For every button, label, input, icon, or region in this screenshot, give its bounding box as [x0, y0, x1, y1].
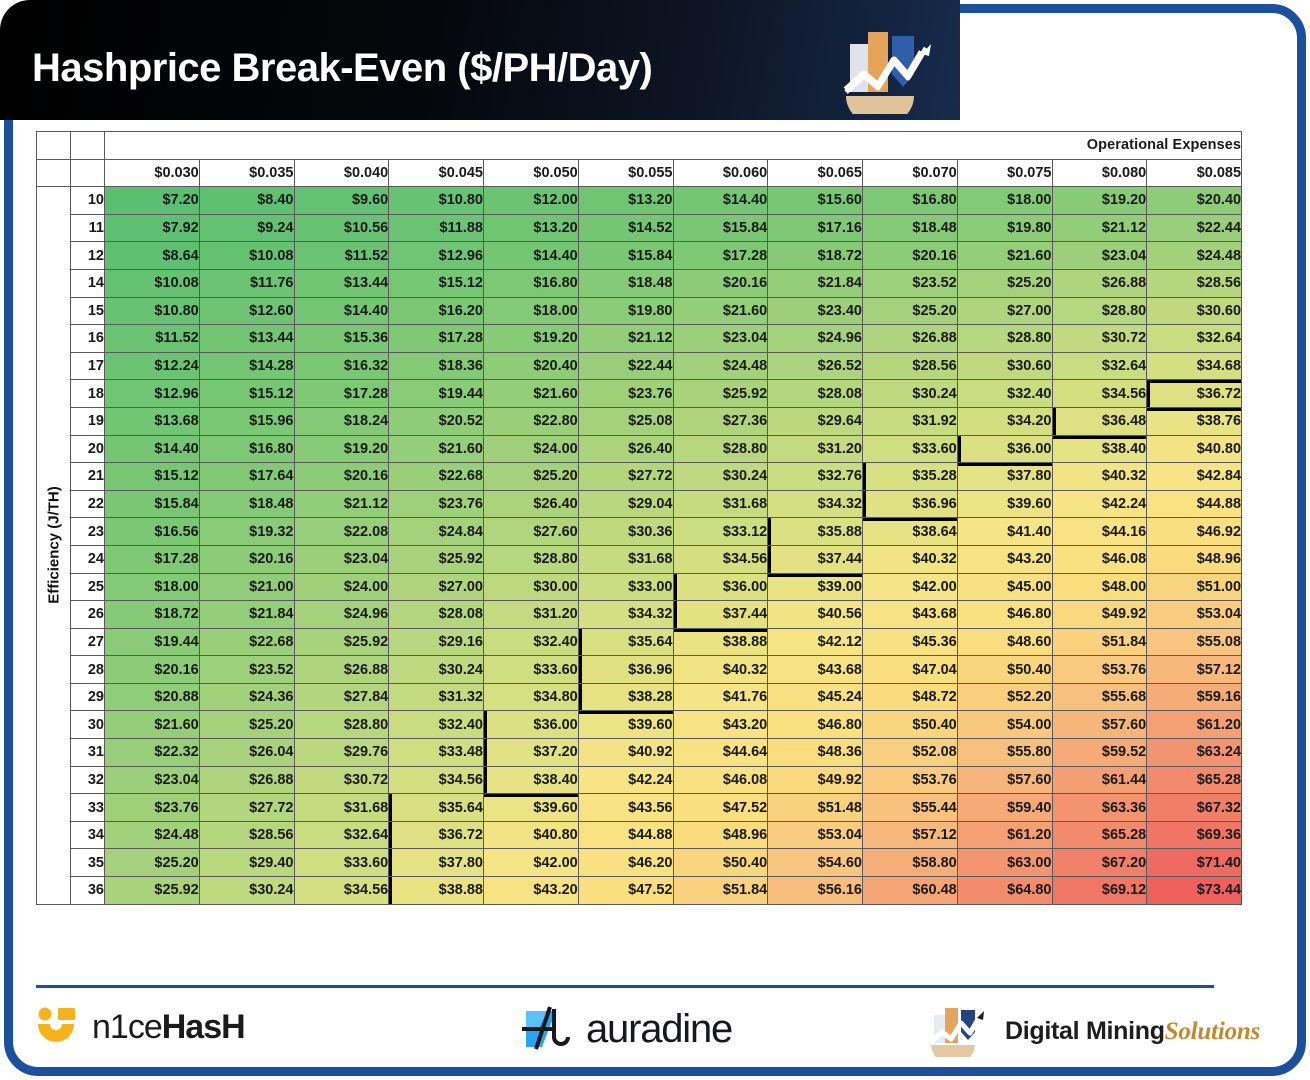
- break-even-cell: $15.84: [578, 242, 673, 270]
- break-even-cell: $28.08: [768, 380, 863, 408]
- break-even-cell: $34.80: [484, 683, 579, 711]
- break-even-cell: $14.40: [294, 297, 389, 325]
- break-even-cell: $25.20: [863, 297, 958, 325]
- break-even-cell: $10.56: [294, 214, 389, 242]
- break-even-cell: $25.92: [105, 877, 200, 905]
- break-even-cell: $59.52: [1052, 739, 1147, 767]
- break-even-cell: $43.68: [768, 656, 863, 684]
- break-even-cell: $43.56: [578, 794, 673, 822]
- break-even-cell: $34.56: [673, 545, 768, 573]
- break-even-cell: $34.32: [768, 490, 863, 518]
- break-even-cell: $20.16: [294, 463, 389, 491]
- break-even-cell: $17.28: [105, 545, 200, 573]
- break-even-cell: $9.24: [199, 214, 294, 242]
- break-even-cell: $19.44: [389, 380, 484, 408]
- table-row: 20$14.40$16.80$19.20$21.60$24.00$26.40$2…: [37, 435, 1242, 463]
- break-even-cell: $32.64: [294, 821, 389, 849]
- logo-dms-text: Digital MiningSolutions: [1005, 1017, 1260, 1046]
- break-even-heatmap-table: Operational Expenses $0.030$0.035$0.040$…: [36, 131, 1242, 905]
- table-row: 11$7.92$9.24$10.56$11.88$13.20$14.52$15.…: [37, 214, 1242, 242]
- table-row: 28$20.16$23.52$26.88$30.24$33.60$36.96$4…: [37, 656, 1242, 684]
- break-even-cell: $16.80: [199, 435, 294, 463]
- opex-column-header: $0.035: [199, 159, 294, 187]
- table-row: 21$15.12$17.64$20.16$22.68$25.20$27.72$3…: [37, 463, 1242, 491]
- break-even-cell: $31.20: [768, 435, 863, 463]
- break-even-cell: $49.92: [768, 766, 863, 794]
- column-group-title: Operational Expenses: [105, 132, 1242, 160]
- break-even-cell: $52.08: [863, 739, 958, 767]
- header-banner: Hashprice Break-Even ($/PH/Day): [0, 0, 960, 120]
- auradine-a-icon: [520, 1003, 576, 1055]
- break-even-cell: $31.68: [294, 794, 389, 822]
- efficiency-row-header: 10: [71, 187, 105, 215]
- logo-nicehash: n1ceHasH: [36, 1007, 245, 1047]
- break-even-cell: $15.84: [673, 214, 768, 242]
- break-even-cell: $36.00: [957, 435, 1052, 463]
- break-even-cell: $17.28: [294, 380, 389, 408]
- mining-chart-arrow-logo: [836, 30, 946, 114]
- efficiency-row-header: 30: [71, 711, 105, 739]
- break-even-cell: $38.76: [1147, 407, 1242, 435]
- break-even-cell: $26.04: [199, 739, 294, 767]
- efficiency-row-header: 36: [71, 877, 105, 905]
- break-even-cell: $63.24: [1147, 739, 1242, 767]
- break-even-cell: $53.04: [768, 821, 863, 849]
- corner-blank-left: [37, 132, 71, 160]
- break-even-cell: $61.20: [1147, 711, 1242, 739]
- break-even-cell: $48.60: [957, 628, 1052, 656]
- table-row: 22$15.84$18.48$21.12$23.76$26.40$29.04$3…: [37, 490, 1242, 518]
- break-even-cell: $42.12: [768, 628, 863, 656]
- break-even-cell: $57.12: [863, 821, 958, 849]
- break-even-cell: $39.00: [768, 573, 863, 601]
- break-even-cell: $17.16: [768, 214, 863, 242]
- break-even-cell: $55.44: [863, 794, 958, 822]
- break-even-cell: $63.00: [957, 849, 1052, 877]
- break-even-cell: $48.36: [768, 739, 863, 767]
- break-even-cell: $71.40: [1147, 849, 1242, 877]
- break-even-cell: $44.88: [1147, 490, 1242, 518]
- break-even-cell: $35.88: [768, 518, 863, 546]
- break-even-cell: $40.92: [578, 739, 673, 767]
- break-even-cell: $12.24: [105, 352, 200, 380]
- efficiency-row-header: 22: [71, 490, 105, 518]
- break-even-cell: $24.00: [294, 573, 389, 601]
- break-even-cell: $43.20: [484, 877, 579, 905]
- break-even-cell: $20.16: [105, 656, 200, 684]
- break-even-cell: $11.52: [105, 325, 200, 353]
- break-even-cell: $55.68: [1052, 683, 1147, 711]
- heatmap-table-container: Operational Expenses $0.030$0.035$0.040$…: [36, 131, 1241, 905]
- break-even-cell: $46.20: [578, 849, 673, 877]
- efficiency-row-header: 31: [71, 739, 105, 767]
- break-even-cell: $40.80: [1147, 435, 1242, 463]
- opex-column-header: $0.060: [673, 159, 768, 187]
- break-even-cell: $21.60: [105, 711, 200, 739]
- break-even-cell: $8.40: [199, 187, 294, 215]
- break-even-cell: $11.88: [389, 214, 484, 242]
- break-even-cell: $53.76: [1052, 656, 1147, 684]
- break-even-cell: $26.88: [294, 656, 389, 684]
- break-even-cell: $24.48: [105, 821, 200, 849]
- break-even-cell: $7.92: [105, 214, 200, 242]
- break-even-cell: $34.68: [1147, 352, 1242, 380]
- break-even-cell: $13.20: [484, 214, 579, 242]
- break-even-cell: $24.48: [673, 352, 768, 380]
- logo-nicehash-text: n1ceHasH: [92, 1008, 245, 1047]
- opex-column-header: $0.085: [1147, 159, 1242, 187]
- table-row: 14$10.08$11.76$13.44$15.12$16.80$18.48$2…: [37, 269, 1242, 297]
- break-even-cell: $36.72: [1147, 380, 1242, 408]
- table-body: Efficiency (J/TH)10$7.20$8.40$9.60$10.80…: [37, 187, 1242, 904]
- break-even-cell: $43.68: [863, 601, 958, 629]
- efficiency-row-header: 35: [71, 849, 105, 877]
- break-even-cell: $26.40: [578, 435, 673, 463]
- break-even-cell: $36.72: [389, 821, 484, 849]
- efficiency-row-header: 14: [71, 269, 105, 297]
- corner-blank-right: [71, 132, 105, 160]
- break-even-cell: $34.32: [578, 601, 673, 629]
- opex-column-header: $0.055: [578, 159, 673, 187]
- nicehash-bold-part: HasH: [162, 1008, 245, 1046]
- break-even-cell: $35.64: [389, 794, 484, 822]
- break-even-cell: $51.00: [1147, 573, 1242, 601]
- break-even-cell: $19.44: [105, 628, 200, 656]
- break-even-cell: $29.16: [389, 628, 484, 656]
- break-even-cell: $26.40: [484, 490, 579, 518]
- break-even-cell: $48.72: [863, 683, 958, 711]
- table-row: 35$25.20$29.40$33.60$37.80$42.00$46.20$5…: [37, 849, 1242, 877]
- break-even-cell: $24.00: [484, 435, 579, 463]
- break-even-cell: $15.12: [389, 269, 484, 297]
- break-even-cell: $50.40: [957, 656, 1052, 684]
- break-even-cell: $32.64: [1147, 325, 1242, 353]
- break-even-cell: $15.36: [294, 325, 389, 353]
- break-even-cell: $9.60: [294, 187, 389, 215]
- break-even-cell: $23.40: [768, 297, 863, 325]
- break-even-cell: $34.56: [1052, 380, 1147, 408]
- break-even-cell: $31.20: [484, 601, 579, 629]
- break-even-cell: $46.08: [673, 766, 768, 794]
- break-even-cell: $18.72: [105, 601, 200, 629]
- logo-auradine-text: auradine: [586, 1007, 732, 1052]
- break-even-cell: $37.80: [957, 463, 1052, 491]
- break-even-cell: $23.76: [105, 794, 200, 822]
- break-even-cell: $16.56: [105, 518, 200, 546]
- table-row: 16$11.52$13.44$15.36$17.28$19.20$21.12$2…: [37, 325, 1242, 353]
- table-row: 23$16.56$19.32$22.08$24.84$27.60$30.36$3…: [37, 518, 1242, 546]
- table-row: 18$12.96$15.12$17.28$19.44$21.60$23.76$2…: [37, 380, 1242, 408]
- break-even-cell: $27.72: [199, 794, 294, 822]
- slide-canvas: Hashprice Break-Even ($/PH/Day): [0, 0, 1310, 1080]
- break-even-cell: $34.56: [294, 877, 389, 905]
- break-even-cell: $33.48: [389, 739, 484, 767]
- break-even-cell: $25.92: [673, 380, 768, 408]
- break-even-cell: $33.12: [673, 518, 768, 546]
- break-even-cell: $45.24: [768, 683, 863, 711]
- opex-column-header: $0.030: [105, 159, 200, 187]
- break-even-cell: $33.00: [578, 573, 673, 601]
- break-even-cell: $28.80: [1052, 297, 1147, 325]
- break-even-cell: $51.84: [1052, 628, 1147, 656]
- break-even-cell: $24.36: [199, 683, 294, 711]
- table-row: 12$8.64$10.08$11.52$12.96$14.40$15.84$17…: [37, 242, 1242, 270]
- break-even-cell: $12.00: [484, 187, 579, 215]
- break-even-cell: $47.52: [578, 877, 673, 905]
- break-even-cell: $46.80: [768, 711, 863, 739]
- table-row: 17$12.24$14.28$16.32$18.36$20.40$22.44$2…: [37, 352, 1242, 380]
- table-row: 25$18.00$21.00$24.00$27.00$30.00$33.00$3…: [37, 573, 1242, 601]
- break-even-cell: $21.84: [768, 269, 863, 297]
- break-even-cell: $25.20: [105, 849, 200, 877]
- break-even-cell: $21.12: [578, 325, 673, 353]
- break-even-cell: $10.80: [105, 297, 200, 325]
- efficiency-row-header: 11: [71, 214, 105, 242]
- break-even-cell: $35.64: [578, 628, 673, 656]
- break-even-cell: $50.40: [673, 849, 768, 877]
- break-even-cell: $23.52: [199, 656, 294, 684]
- table-row: 15$10.80$12.60$14.40$16.20$18.00$19.80$2…: [37, 297, 1242, 325]
- break-even-cell: $24.96: [768, 325, 863, 353]
- break-even-cell: $23.52: [863, 269, 958, 297]
- break-even-cell: $48.00: [1052, 573, 1147, 601]
- break-even-cell: $28.80: [673, 435, 768, 463]
- break-even-cell: $46.08: [1052, 545, 1147, 573]
- break-even-cell: $21.60: [484, 380, 579, 408]
- break-even-cell: $40.32: [1052, 463, 1147, 491]
- break-even-cell: $17.28: [673, 242, 768, 270]
- break-even-cell: $21.00: [199, 573, 294, 601]
- break-even-cell: $22.08: [294, 518, 389, 546]
- break-even-cell: $20.16: [199, 545, 294, 573]
- break-even-cell: $20.52: [389, 407, 484, 435]
- break-even-cell: $45.36: [863, 628, 958, 656]
- break-even-cell: $30.24: [863, 380, 958, 408]
- break-even-cell: $18.36: [389, 352, 484, 380]
- break-even-cell: $38.28: [578, 683, 673, 711]
- break-even-cell: $24.48: [1147, 242, 1242, 270]
- break-even-cell: $22.68: [389, 463, 484, 491]
- break-even-cell: $23.04: [1052, 242, 1147, 270]
- break-even-cell: $26.88: [1052, 269, 1147, 297]
- break-even-cell: $40.80: [484, 821, 579, 849]
- logo-digital-mining-solutions: Digital MiningSolutions: [925, 1005, 1260, 1057]
- break-even-cell: $53.76: [863, 766, 958, 794]
- break-even-cell: $26.88: [199, 766, 294, 794]
- break-even-cell: $11.76: [199, 269, 294, 297]
- break-even-cell: $65.28: [1147, 766, 1242, 794]
- opex-column-header: $0.075: [957, 159, 1052, 187]
- opex-column-header: $0.045: [389, 159, 484, 187]
- table-row: 24$17.28$20.16$23.04$25.92$28.80$31.68$3…: [37, 545, 1242, 573]
- corner-blank-right-2: [71, 159, 105, 187]
- break-even-cell: $15.60: [768, 187, 863, 215]
- header-row-group: Operational Expenses: [37, 132, 1242, 160]
- break-even-cell: $18.24: [294, 407, 389, 435]
- break-even-cell: $27.36: [673, 407, 768, 435]
- table-row: 31$22.32$26.04$29.76$33.48$37.20$40.92$4…: [37, 739, 1242, 767]
- break-even-cell: $30.36: [578, 518, 673, 546]
- break-even-cell: $38.64: [863, 518, 958, 546]
- break-even-cell: $21.12: [294, 490, 389, 518]
- break-even-cell: $37.80: [389, 849, 484, 877]
- break-even-cell: $18.48: [199, 490, 294, 518]
- break-even-cell: $38.88: [673, 628, 768, 656]
- break-even-cell: $12.96: [389, 242, 484, 270]
- break-even-cell: $35.28: [863, 463, 958, 491]
- break-even-cell: $27.84: [294, 683, 389, 711]
- break-even-cell: $22.44: [578, 352, 673, 380]
- break-even-cell: $14.40: [105, 435, 200, 463]
- break-even-cell: $18.48: [578, 269, 673, 297]
- dms-dark-part: Digital Mining: [1005, 1017, 1165, 1045]
- break-even-cell: $20.16: [863, 242, 958, 270]
- break-even-cell: $10.08: [199, 242, 294, 270]
- efficiency-row-header: 17: [71, 352, 105, 380]
- break-even-cell: $34.56: [389, 766, 484, 794]
- break-even-cell: $25.20: [957, 269, 1052, 297]
- break-even-cell: $16.80: [484, 269, 579, 297]
- break-even-cell: $30.24: [199, 877, 294, 905]
- mining-chart-arrow-logo: [925, 1005, 995, 1057]
- break-even-cell: $30.24: [389, 656, 484, 684]
- break-even-cell: $43.20: [673, 711, 768, 739]
- break-even-cell: $15.84: [105, 490, 200, 518]
- break-even-cell: $20.40: [1147, 187, 1242, 215]
- break-even-cell: $13.44: [294, 269, 389, 297]
- smiley-face-icon: [36, 1007, 82, 1047]
- break-even-cell: $13.68: [105, 407, 200, 435]
- break-even-cell: $20.40: [484, 352, 579, 380]
- nicehash-light-part: n1ce: [92, 1008, 162, 1046]
- break-even-cell: $17.28: [389, 325, 484, 353]
- break-even-cell: $32.76: [768, 463, 863, 491]
- break-even-cell: $42.84: [1147, 463, 1242, 491]
- break-even-cell: $21.84: [199, 601, 294, 629]
- break-even-cell: $15.96: [199, 407, 294, 435]
- break-even-cell: $39.60: [578, 711, 673, 739]
- break-even-cell: $33.60: [294, 849, 389, 877]
- break-even-cell: $18.00: [484, 297, 579, 325]
- break-even-cell: $33.60: [484, 656, 579, 684]
- break-even-cell: $30.60: [957, 352, 1052, 380]
- table-row: 26$18.72$21.84$24.96$28.08$31.20$34.32$3…: [37, 601, 1242, 629]
- break-even-cell: $51.48: [768, 794, 863, 822]
- break-even-cell: $57.60: [957, 766, 1052, 794]
- efficiency-row-header: 26: [71, 601, 105, 629]
- break-even-cell: $20.88: [105, 683, 200, 711]
- efficiency-row-header: 23: [71, 518, 105, 546]
- break-even-cell: $30.72: [294, 766, 389, 794]
- break-even-cell: $50.40: [863, 711, 958, 739]
- break-even-cell: $12.96: [105, 380, 200, 408]
- break-even-cell: $32.40: [957, 380, 1052, 408]
- break-even-cell: $40.32: [673, 656, 768, 684]
- break-even-cell: $28.56: [863, 352, 958, 380]
- break-even-cell: $28.80: [484, 545, 579, 573]
- break-even-cell: $8.64: [105, 242, 200, 270]
- break-even-cell: $19.20: [1052, 187, 1147, 215]
- break-even-cell: $36.96: [863, 490, 958, 518]
- break-even-cell: $13.20: [578, 187, 673, 215]
- break-even-cell: $27.00: [389, 573, 484, 601]
- break-even-cell: $19.20: [294, 435, 389, 463]
- break-even-cell: $44.64: [673, 739, 768, 767]
- break-even-cell: $31.68: [578, 545, 673, 573]
- break-even-cell: $23.04: [673, 325, 768, 353]
- break-even-cell: $14.52: [578, 214, 673, 242]
- break-even-cell: $23.76: [578, 380, 673, 408]
- break-even-cell: $14.28: [199, 352, 294, 380]
- break-even-cell: $27.00: [957, 297, 1052, 325]
- break-even-cell: $57.60: [1052, 711, 1147, 739]
- break-even-cell: $57.12: [1147, 656, 1242, 684]
- efficiency-row-header: 20: [71, 435, 105, 463]
- break-even-cell: $29.40: [199, 849, 294, 877]
- break-even-cell: $25.20: [484, 463, 579, 491]
- efficiency-row-header: 33: [71, 794, 105, 822]
- break-even-cell: $53.04: [1147, 601, 1242, 629]
- break-even-cell: $38.88: [389, 877, 484, 905]
- efficiency-row-header: 19: [71, 407, 105, 435]
- efficiency-row-header: 25: [71, 573, 105, 601]
- logo-auradine: auradine: [520, 1003, 732, 1055]
- break-even-cell: $47.04: [863, 656, 958, 684]
- break-even-cell: $15.12: [105, 463, 200, 491]
- break-even-cell: $28.56: [1147, 269, 1242, 297]
- break-even-cell: $39.60: [957, 490, 1052, 518]
- opex-column-header: $0.040: [294, 159, 389, 187]
- break-even-cell: $10.80: [389, 187, 484, 215]
- break-even-cell: $30.00: [484, 573, 579, 601]
- break-even-cell: $7.20: [105, 187, 200, 215]
- efficiency-row-header: 32: [71, 766, 105, 794]
- table-row: Efficiency (J/TH)10$7.20$8.40$9.60$10.80…: [37, 187, 1242, 215]
- break-even-cell: $37.20: [484, 739, 579, 767]
- break-even-cell: $67.20: [1052, 849, 1147, 877]
- break-even-cell: $46.80: [957, 601, 1052, 629]
- break-even-cell: $23.04: [294, 545, 389, 573]
- table-row: 36$25.92$30.24$34.56$38.88$43.20$47.52$5…: [37, 877, 1242, 905]
- break-even-cell: $54.60: [768, 849, 863, 877]
- break-even-cell: $40.56: [768, 601, 863, 629]
- break-even-cell: $31.92: [863, 407, 958, 435]
- break-even-cell: $65.28: [1052, 821, 1147, 849]
- page-title: Hashprice Break-Even ($/PH/Day): [32, 46, 652, 91]
- break-even-cell: $28.08: [389, 601, 484, 629]
- break-even-cell: $67.32: [1147, 794, 1242, 822]
- break-even-cell: $44.16: [1052, 518, 1147, 546]
- break-even-cell: $45.00: [957, 573, 1052, 601]
- break-even-cell: $11.52: [294, 242, 389, 270]
- break-even-cell: $38.40: [484, 766, 579, 794]
- break-even-cell: $28.80: [294, 711, 389, 739]
- break-even-cell: $46.92: [1147, 518, 1242, 546]
- footer-divider: [36, 985, 1214, 988]
- opex-column-header: $0.070: [863, 159, 958, 187]
- break-even-cell: $47.52: [673, 794, 768, 822]
- break-even-cell: $12.60: [199, 297, 294, 325]
- break-even-cell: $19.20: [484, 325, 579, 353]
- efficiency-row-header: 21: [71, 463, 105, 491]
- break-even-cell: $59.40: [957, 794, 1052, 822]
- break-even-cell: $64.80: [957, 877, 1052, 905]
- break-even-cell: $28.56: [199, 821, 294, 849]
- break-even-cell: $61.44: [1052, 766, 1147, 794]
- break-even-cell: $54.00: [957, 711, 1052, 739]
- row-axis-label: Efficiency (J/TH): [45, 487, 62, 605]
- break-even-cell: $25.08: [578, 407, 673, 435]
